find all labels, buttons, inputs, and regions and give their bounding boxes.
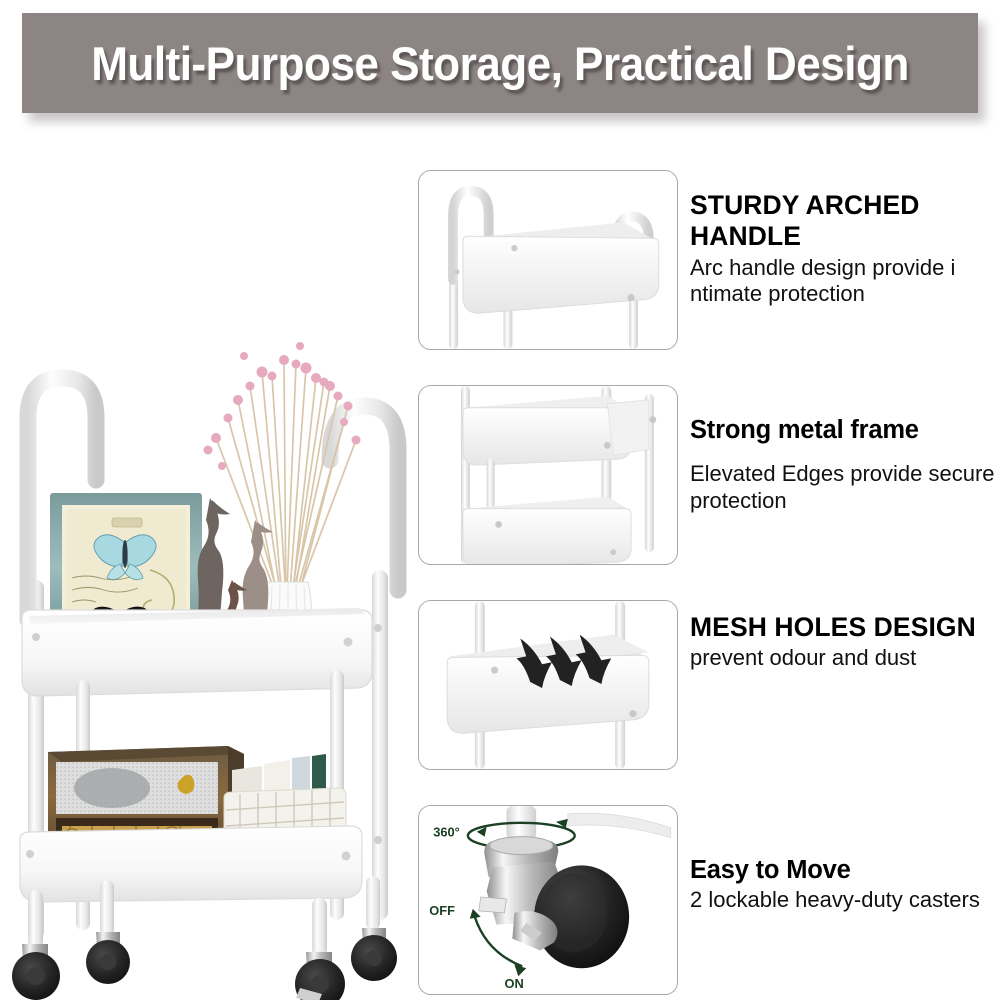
feature-text-easy-to-move: Easy to Move 2 lockable heavy-duty caste… xyxy=(690,855,1000,914)
brake-off-label: OFF xyxy=(429,903,455,918)
metal-frame-illustration xyxy=(419,386,677,564)
feature-panel-strong-metal-frame xyxy=(418,385,678,565)
caster-wheel-with-brake xyxy=(351,928,397,981)
product-photo-illustration xyxy=(0,150,418,1000)
bottom-basket xyxy=(20,826,382,902)
feature-panel-mesh-holes-design xyxy=(418,600,678,770)
feature-description: Elevated Edges provide secure protection xyxy=(690,461,1000,515)
feature-panel-sturdy-arched-handle xyxy=(418,170,678,350)
feature-panel-easy-to-move: 360° OFF ON xyxy=(418,805,678,995)
feature-title: Easy to Move xyxy=(690,855,1000,885)
mesh-holes-illustration xyxy=(419,601,677,769)
caster-wheel xyxy=(12,944,60,1000)
feature-description: 2 lockable heavy-duty casters xyxy=(690,887,1000,914)
header-banner: Multi-Purpose Storage, Practical Design xyxy=(22,13,978,113)
feature-text-mesh-holes-design: MESH HOLES DESIGN prevent odour and dust xyxy=(690,612,1000,672)
feature-description: Arc handle design provide i ntimate prot… xyxy=(690,255,1000,309)
caster-wheel xyxy=(86,932,130,984)
rotation-label: 360° xyxy=(433,825,460,840)
product-photo-rolling-cart xyxy=(0,150,418,1000)
caster-illustration: 360° OFF ON xyxy=(419,806,677,994)
feature-text-strong-metal-frame: Strong metal frame Elevated Edges provid… xyxy=(690,415,1000,515)
top-basket xyxy=(22,608,382,696)
feature-text-sturdy-arched-handle: STURDY ARCHED HANDLE Arc handle design p… xyxy=(690,190,1000,308)
feature-description: prevent odour and dust xyxy=(690,645,1000,672)
brake-on-label: ON xyxy=(504,976,523,991)
feature-title: Strong metal frame xyxy=(690,415,1000,445)
caster-wheel-with-brake xyxy=(295,952,345,1000)
arched-handle-illustration xyxy=(419,171,677,349)
feature-title: STURDY ARCHED HANDLE xyxy=(690,190,1000,253)
feature-title: MESH HOLES DESIGN xyxy=(690,612,1000,643)
page-title: Multi-Purpose Storage, Practical Design xyxy=(51,13,950,113)
